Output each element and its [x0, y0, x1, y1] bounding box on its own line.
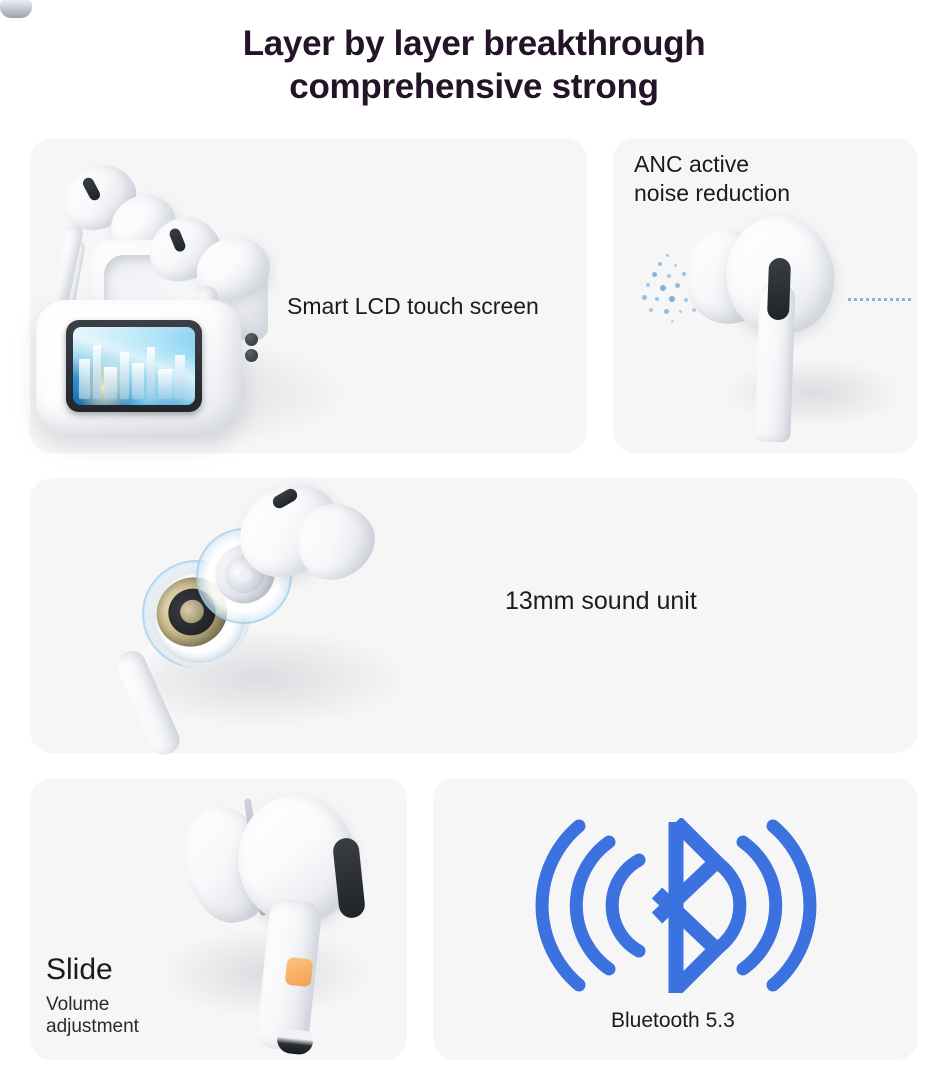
- wave-left-middle: [576, 842, 609, 969]
- anc-earbud-stem-end: [0, 0, 32, 18]
- feature-label-bluetooth: Bluetooth 5.3: [611, 1008, 735, 1035]
- feature-label-anc: ANC active noise reduction: [634, 150, 790, 209]
- wave-left-inner: [612, 860, 639, 951]
- case-button-bottom: [245, 349, 258, 362]
- bluetooth-rune: [657, 822, 716, 989]
- bluetooth-icon: [531, 818, 821, 993]
- anc-earbud-illustration: [0, 0, 32, 18]
- slide-touch-control-pad: [285, 957, 314, 988]
- anc-signal-line-icon: [848, 298, 914, 301]
- feature-label-lcd: Smart LCD touch screen: [287, 292, 539, 321]
- feature-label-slide-title: Slide: [46, 955, 113, 985]
- feature-label-sound-unit: 13mm sound unit: [505, 585, 697, 617]
- case-lcd-screen: [73, 327, 195, 405]
- anc-earbud-shadow: [723, 358, 903, 428]
- wave-right-inner: [713, 860, 740, 951]
- feature-label-slide-subtitle: Volume adjustment: [46, 994, 139, 1039]
- page-title: Layer by layer breakthrough comprehensiv…: [0, 22, 948, 108]
- case-button-top: [245, 333, 258, 346]
- wave-right-middle: [743, 842, 776, 969]
- anc-earbud-sensor-slot: [767, 258, 791, 321]
